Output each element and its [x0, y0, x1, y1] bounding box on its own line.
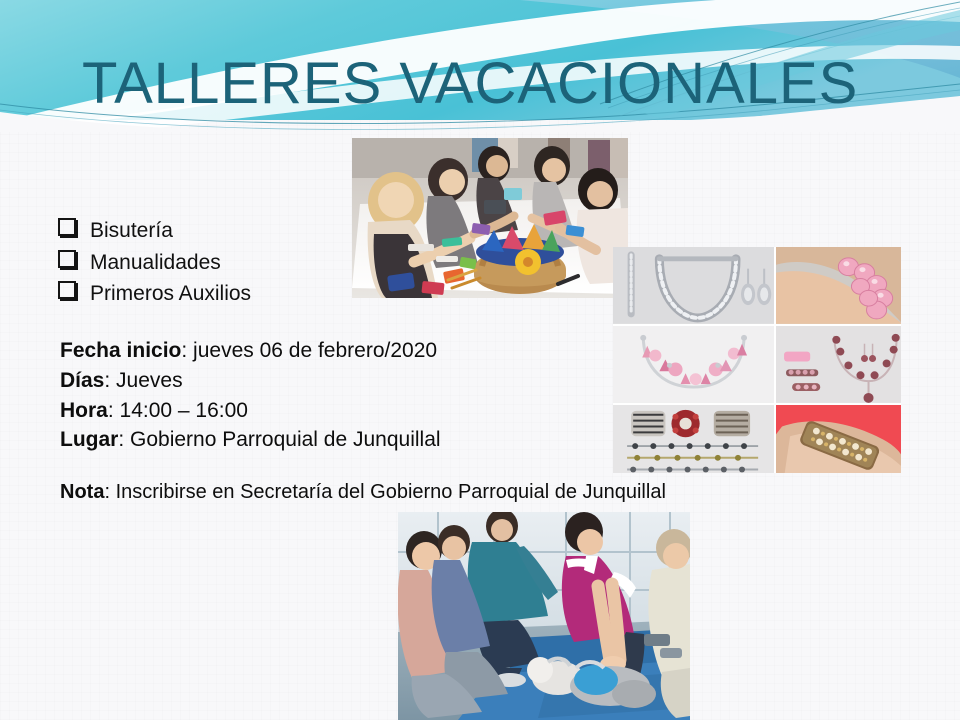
detail-row-hora: Hora: 14:00 – 16:00	[60, 396, 580, 426]
first-aid-cpr-training-photo	[398, 512, 690, 720]
detail-row-fecha-inicio: Fecha inicio: jueves 06 de febrero/2020	[60, 336, 580, 366]
list-item: Primeros Auxilios	[58, 281, 388, 307]
detail-separator: :	[104, 369, 116, 392]
note-line: Nota: Inscribirse en Secretaría del Gobi…	[60, 481, 666, 504]
detail-label: Lugar	[60, 428, 118, 451]
detail-label: Días	[60, 369, 104, 392]
detail-separator: :	[181, 339, 193, 362]
detail-separator: :	[108, 399, 120, 422]
pink-beaded-bracelet-on-wrist-panel	[776, 247, 901, 324]
gold-cuff-on-red-background-panel	[776, 405, 901, 473]
list-item-label: Manualidades	[90, 250, 221, 276]
note-value: Inscribirse en Secretaría del Gobierno P…	[116, 481, 666, 503]
detail-value: Jueves	[116, 369, 183, 392]
list-item-label: Bisutería	[90, 218, 173, 244]
detail-value: jueves 06 de febrero/2020	[193, 339, 437, 362]
list-item-label: Primeros Auxilios	[90, 281, 251, 307]
detail-value: Gobierno Parroquial de Junquillal	[130, 428, 441, 451]
beaded-cuff-bracelets-panel	[613, 405, 774, 473]
detail-row-dias: Días: Jueves	[60, 366, 580, 396]
silver-necklace-earrings-panel	[613, 247, 774, 324]
craft-workshop-photo	[352, 138, 628, 298]
list-item: Manualidades	[58, 250, 388, 276]
page-title: TALLERES VACACIONALES	[82, 50, 858, 117]
detail-value: 14:00 – 16:00	[120, 399, 248, 422]
workshop-list: Bisutería Manualidades Primeros Auxilios	[58, 218, 388, 313]
note-separator: :	[104, 481, 115, 503]
event-details: Fecha inicio: jueves 06 de febrero/2020 …	[60, 336, 580, 455]
note-label: Nota	[60, 481, 104, 503]
checkbox-square-bullet-icon	[58, 218, 76, 236]
detail-separator: :	[118, 428, 130, 451]
detail-label: Hora	[60, 399, 108, 422]
detail-row-lugar: Lugar: Gobierno Parroquial de Junquillal	[60, 425, 580, 455]
checkbox-square-bullet-icon	[58, 250, 76, 268]
jewelry-collage-photo	[613, 247, 901, 473]
slide-canvas: TALLERES VACACIONALES Bisutería Manualid…	[0, 0, 960, 720]
detail-label: Fecha inicio	[60, 339, 181, 362]
pink-charm-necklace-panel	[613, 326, 774, 403]
list-item: Bisutería	[58, 218, 388, 244]
pink-necklace-set-panel	[776, 326, 901, 403]
checkbox-square-bullet-icon	[58, 281, 76, 299]
